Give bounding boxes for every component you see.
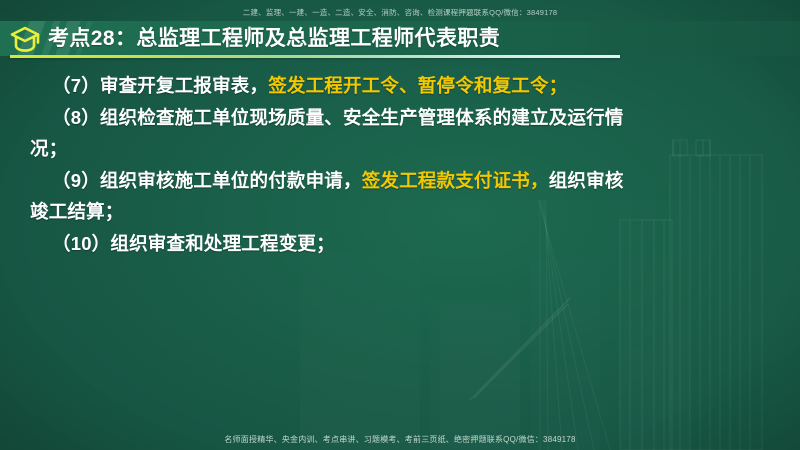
content-list: （7）审查开复工报审表，签发工程开工令、暂停令和复工令； （8）组织检查施工单位… [30,70,630,260]
title-underline-rule [10,55,620,58]
list-item: （9）组织审核施工单位的付款申请，签发工程款支付证书，组织审核竣工结算； [30,165,630,227]
item-number: （7） [52,75,100,96]
item-text-highlight: 签发工程款支付证书， [362,170,549,191]
top-promo-banner: 二建、监理、一建、一造、二造、安全、消防、咨询、检测课程押题联系QQ/微信：38… [0,7,800,18]
item-number: （8） [52,107,100,128]
page-title: 考点28：总监理工程师及总监理工程师代表职责 [48,21,500,56]
item-text-plain: 组织检查施工单位现场质量、安全生产管理体系的建立及运行情况； [30,107,624,159]
slide-root: 二建、监理、一建、一造、二造、安全、消防、咨询、检测课程押题联系QQ/微信：38… [0,0,800,450]
list-item: （10）组织审查和处理工程变更； [30,228,630,259]
bottom-promo-banner: 名师面授精华、央金内训、考点串讲、习题模考、考前三页纸、绝密押题联系QQ/微信：… [0,434,800,445]
item-text-highlight: 签发工程开工令、暂停令和复工令； [268,75,567,96]
graduation-cap-icon [9,24,41,54]
list-item: （8）组织检查施工单位现场质量、安全生产管理体系的建立及运行情况； [30,102,630,164]
item-number: （9） [52,170,100,191]
item-number: （10） [52,233,110,254]
item-text-plain: 审查开复工报审表， [100,75,268,96]
list-item: （7）审查开复工报审表，签发工程开工令、暂停令和复工令； [30,70,630,101]
item-text-plain: 组织审查和处理工程变更； [110,233,334,254]
item-text-plain: 组织审核施工单位的付款申请， [100,170,362,191]
